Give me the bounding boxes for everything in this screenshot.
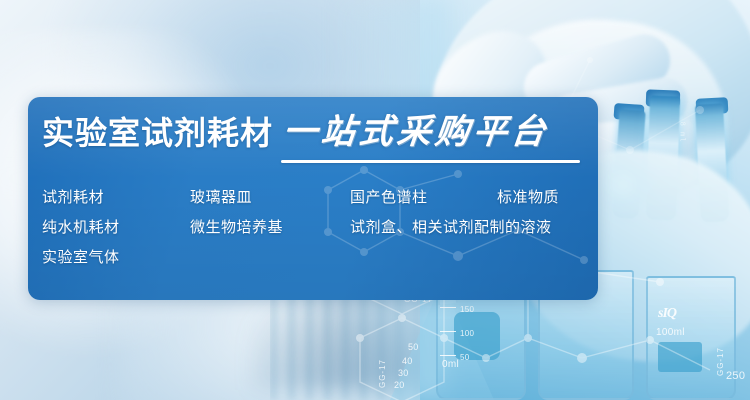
category-item-domestic-chromatography-column[interactable]: 国产色谱柱	[350, 186, 497, 207]
category-item-microbial-culture-media[interactable]: 微生物培养基	[190, 216, 350, 237]
category-item-glassware[interactable]: 玻璃器皿	[190, 186, 350, 207]
title-script-text: 一站式采购平台	[281, 115, 551, 149]
promo-panel: 实验室试剂耗材 一站式采购平台 试剂耗材 玻璃器皿 国产色谱柱 标准物质 纯水机…	[28, 97, 598, 300]
category-item-reagent-consumables[interactable]: 试剂耗材	[42, 186, 190, 207]
banner-stage: 8 ml 250 APPROX 200 150 100 50 GG-17 GG-…	[0, 0, 750, 400]
category-row-3: 实验室气体	[42, 241, 592, 271]
category-row-1: 试剂耗材 玻璃器皿 国产色谱柱 标准物质	[42, 181, 592, 211]
category-row-2: 纯水机耗材 微生物培养基 试剂盒、相关试剂配制的溶液	[42, 211, 592, 241]
category-list: 试剂耗材 玻璃器皿 国产色谱柱 标准物质 纯水机耗材 微生物培养基 试剂盒、相关…	[42, 181, 592, 271]
title-main-text: 实验室试剂耗材	[42, 117, 273, 149]
category-item-laboratory-gas[interactable]: 实验室气体	[42, 246, 190, 267]
category-item-reference-material[interactable]: 标准物质	[497, 186, 559, 207]
title-underline	[281, 160, 580, 163]
category-item-water-purifier-consumables[interactable]: 纯水机耗材	[42, 216, 190, 237]
category-item-reagent-kits-solutions[interactable]: 试剂盒、相关试剂配制的溶液	[350, 216, 552, 237]
panel-title: 实验室试剂耗材 一站式采购平台	[42, 115, 549, 149]
